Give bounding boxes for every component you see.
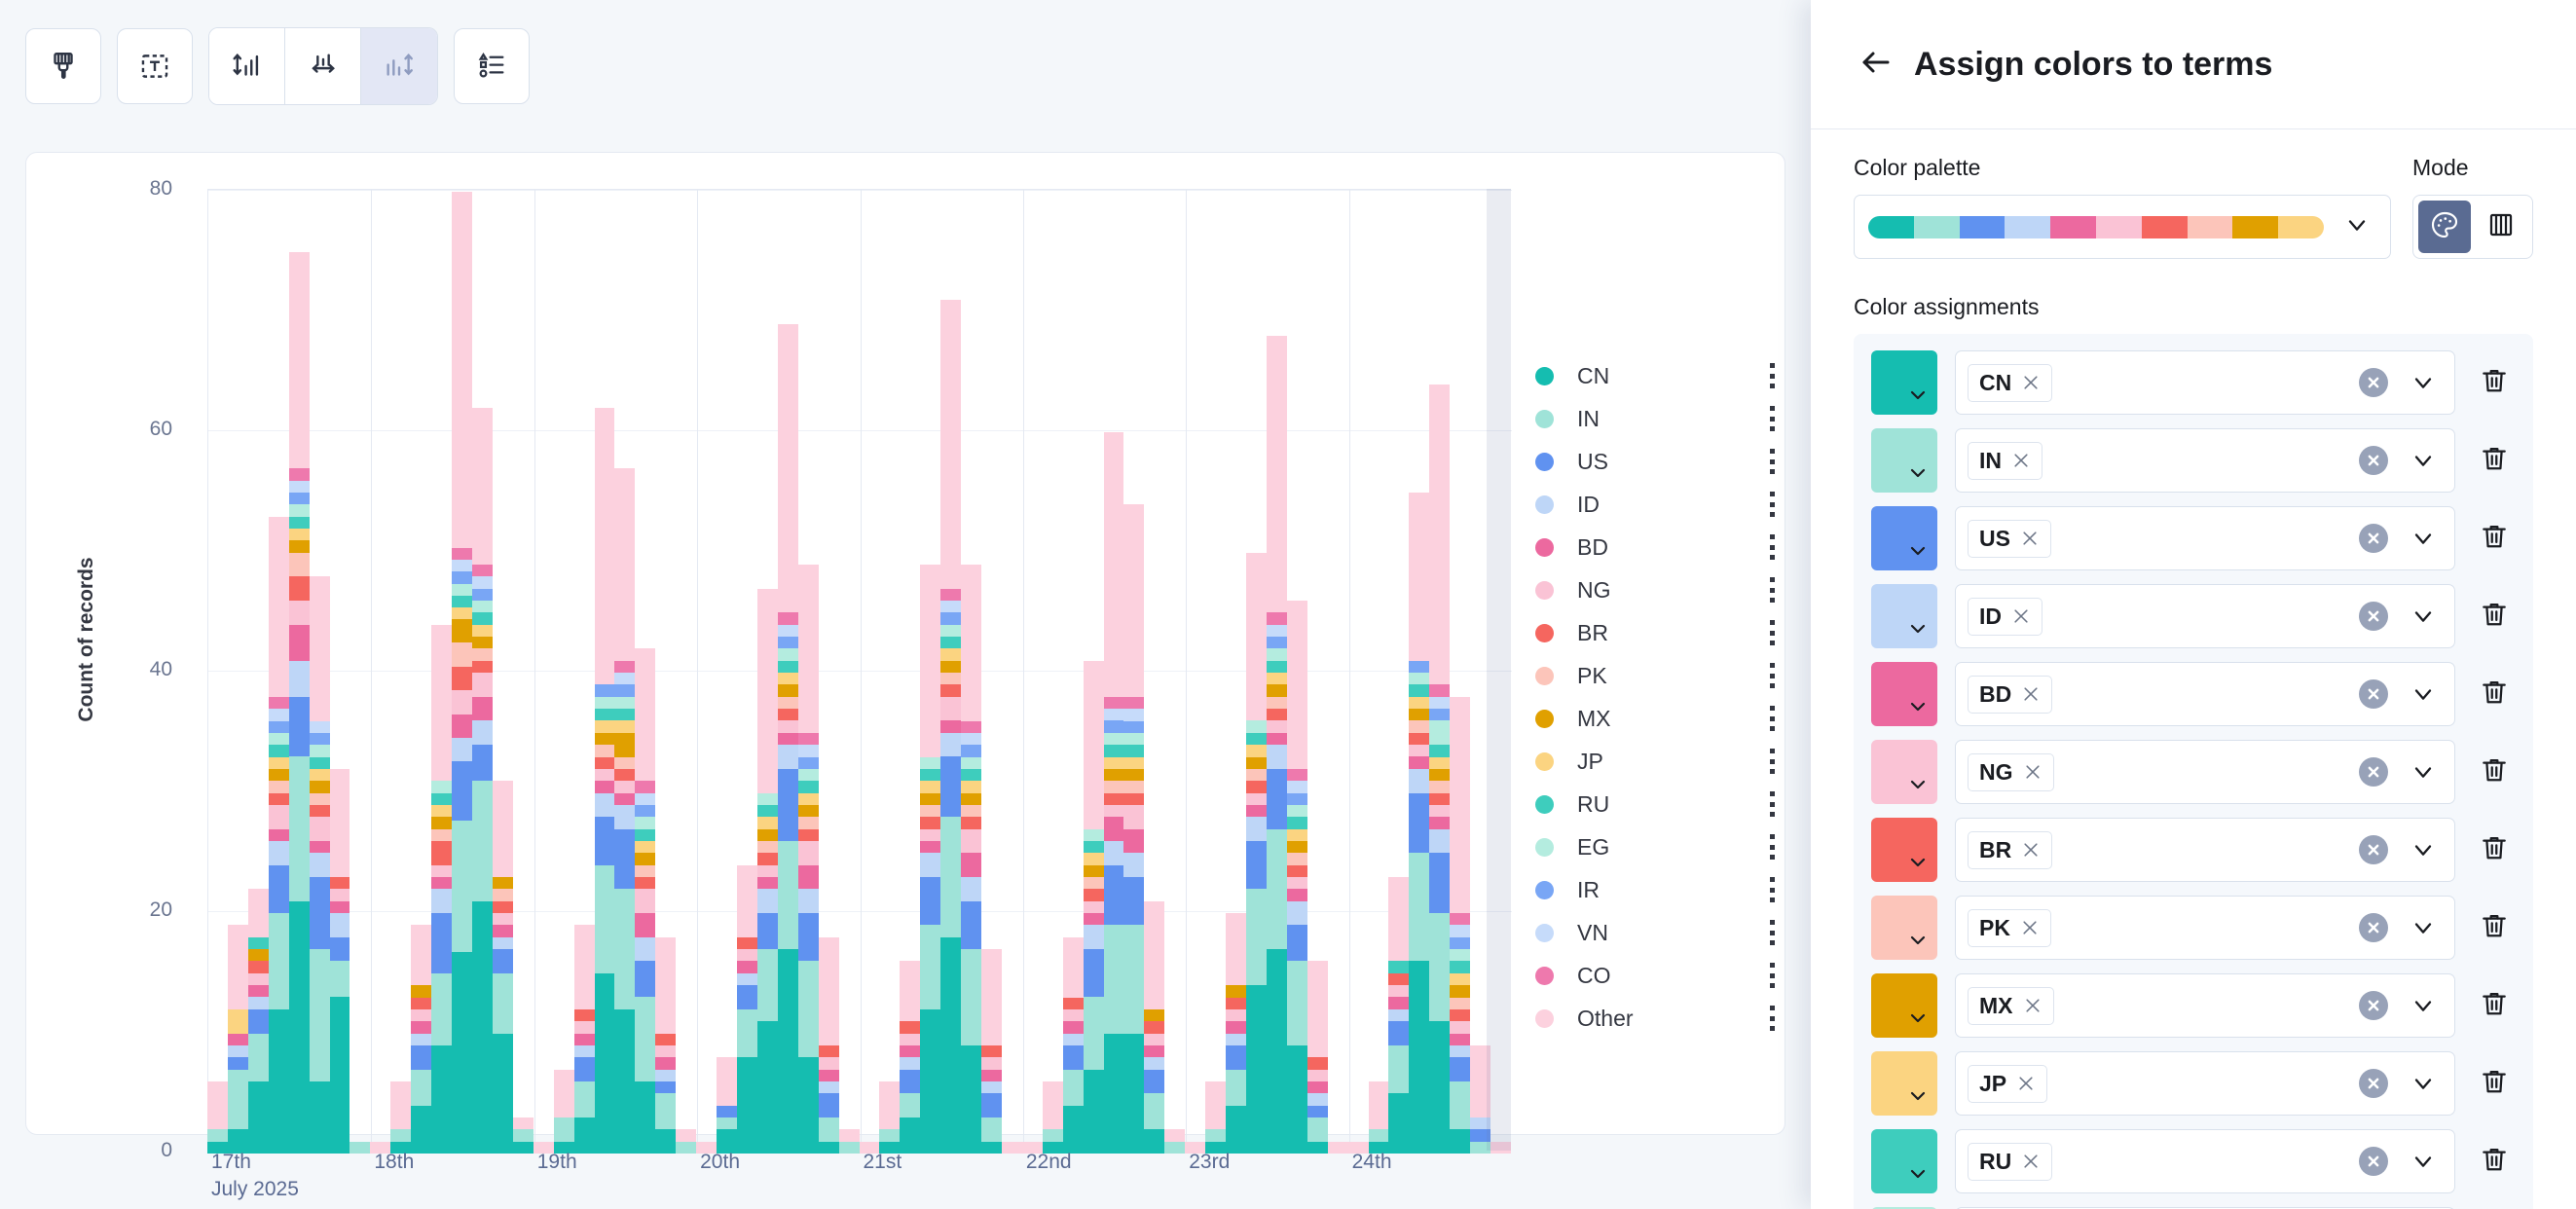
bar-segment[interactable] xyxy=(493,937,513,949)
bar-segment[interactable] xyxy=(961,793,981,805)
legend-item[interactable]: EG xyxy=(1535,825,1779,868)
bar-segment[interactable] xyxy=(269,865,289,913)
bar-segment[interactable] xyxy=(1144,1021,1164,1033)
bar-segment[interactable] xyxy=(472,697,493,721)
bar-segment[interactable] xyxy=(1450,1021,1470,1033)
bar-segment[interactable] xyxy=(289,697,310,757)
bar-segment[interactable] xyxy=(1246,781,1267,792)
bar-segment[interactable] xyxy=(1429,829,1450,854)
bar-segment[interactable] xyxy=(1063,1070,1084,1106)
chevron-down-icon[interactable] xyxy=(2410,1148,2437,1175)
bar-column[interactable] xyxy=(981,192,1002,1154)
bar-segment[interactable] xyxy=(289,756,310,900)
bar-segment[interactable] xyxy=(1226,1070,1246,1106)
bar-segment[interactable] xyxy=(981,1070,1002,1081)
bar-segment[interactable] xyxy=(574,1021,595,1033)
bar-segment[interactable] xyxy=(635,865,655,877)
bar-segment[interactable] xyxy=(289,517,310,529)
bar-segment[interactable] xyxy=(1287,841,1307,853)
bar-segment[interactable] xyxy=(595,817,615,864)
bar-segment[interactable] xyxy=(248,997,269,1008)
bar-segment[interactable] xyxy=(961,817,981,828)
delete-assignment-button[interactable] xyxy=(2473,751,2516,793)
bar-segment[interactable] xyxy=(431,781,452,792)
bar-segment[interactable] xyxy=(1246,757,1267,769)
color-swatch-picker[interactable] xyxy=(1871,973,1937,1038)
bar-segment[interactable] xyxy=(452,642,472,666)
bar-segment[interactable] xyxy=(1104,793,1124,805)
chevron-down-icon[interactable] xyxy=(2410,914,2437,941)
bar-segment[interactable] xyxy=(310,817,330,841)
color-swatch-picker[interactable] xyxy=(1871,896,1937,960)
bar-segment[interactable] xyxy=(778,637,798,648)
bar-segment[interactable] xyxy=(1063,1034,1084,1045)
bar-segment[interactable] xyxy=(1226,913,1246,985)
bar-segment[interactable] xyxy=(1104,757,1124,769)
color-swatch-picker[interactable] xyxy=(1871,740,1937,804)
bar-segment[interactable] xyxy=(269,1009,289,1154)
bar-segment[interactable] xyxy=(737,865,757,937)
bar-segment[interactable] xyxy=(1409,493,1429,661)
bar-segment[interactable] xyxy=(1123,745,1144,756)
bar-segment[interactable] xyxy=(431,973,452,1045)
bar-segment[interactable] xyxy=(940,684,961,696)
bar-segment[interactable] xyxy=(310,793,330,805)
bar-segment[interactable] xyxy=(493,913,513,925)
bar-segment[interactable] xyxy=(1409,661,1429,673)
bar-segment[interactable] xyxy=(248,937,269,949)
term-combobox[interactable]: JP xyxy=(1955,1051,2455,1116)
bar-segment[interactable] xyxy=(1429,769,1450,781)
bar-segment[interactable] xyxy=(1388,961,1409,972)
bar-segment[interactable] xyxy=(1123,504,1144,697)
bar-column[interactable] xyxy=(635,192,655,1154)
bar-segment[interactable] xyxy=(819,1093,839,1117)
bar-column[interactable] xyxy=(431,192,452,1154)
bar-segment[interactable] xyxy=(411,1070,431,1106)
bar-column[interactable] xyxy=(696,192,717,1154)
bar-column[interactable] xyxy=(1164,192,1185,1154)
bar-segment[interactable] xyxy=(1084,661,1104,829)
bar-column[interactable] xyxy=(452,192,472,1154)
legend-more-icon[interactable] xyxy=(1765,791,1779,817)
chevron-down-icon[interactable] xyxy=(2410,525,2437,552)
bar-segment[interactable] xyxy=(1409,733,1429,745)
bar-segment[interactable] xyxy=(981,949,1002,1045)
bar-segment[interactable] xyxy=(778,648,798,660)
bar-segment[interactable] xyxy=(778,324,798,612)
term-combobox[interactable]: ID xyxy=(1955,584,2455,648)
bar-segment[interactable] xyxy=(961,949,981,1045)
bar-segment[interactable] xyxy=(1307,1070,1328,1081)
bar-segment[interactable] xyxy=(798,793,819,805)
bar-segment[interactable] xyxy=(798,769,819,781)
bar-column[interactable] xyxy=(1409,192,1429,1154)
bar-segment[interactable] xyxy=(1226,1034,1246,1045)
bar-column[interactable] xyxy=(961,192,981,1154)
bar-segment[interactable] xyxy=(1429,745,1450,756)
bar-segment[interactable] xyxy=(411,985,431,997)
bar-segment[interactable] xyxy=(228,1057,248,1069)
legend-item[interactable]: Other xyxy=(1535,997,1779,1040)
delete-assignment-button[interactable] xyxy=(2473,1062,2516,1105)
bar-segment[interactable] xyxy=(757,841,778,853)
bar-segment[interactable] xyxy=(452,560,472,571)
bar-segment[interactable] xyxy=(940,817,961,937)
bar-segment[interactable] xyxy=(778,949,798,1154)
bar-segment[interactable] xyxy=(940,720,961,732)
bar-segment[interactable] xyxy=(269,517,289,697)
bar-segment[interactable] xyxy=(1388,1045,1409,1093)
clear-icon[interactable] xyxy=(2359,913,2388,942)
bar-segment[interactable] xyxy=(635,853,655,864)
bar-segment[interactable] xyxy=(900,1057,920,1069)
delete-assignment-button[interactable] xyxy=(2473,828,2516,871)
bar-segment[interactable] xyxy=(961,745,981,756)
bar-segment[interactable] xyxy=(614,793,635,805)
bar-segment[interactable] xyxy=(1450,1057,1470,1081)
bar-segment[interactable] xyxy=(1409,697,1429,709)
bar-segment[interactable] xyxy=(778,673,798,684)
bar-segment[interactable] xyxy=(207,1081,228,1129)
bar-segment[interactable] xyxy=(757,853,778,864)
bar-segment[interactable] xyxy=(1104,432,1124,697)
color-swatch-picker[interactable] xyxy=(1871,818,1937,882)
legend-more-icon[interactable] xyxy=(1765,492,1779,517)
bar-segment[interactable] xyxy=(1450,913,1470,925)
bar-segment[interactable] xyxy=(1084,877,1104,889)
bar-segment[interactable] xyxy=(452,584,472,596)
bar-segment[interactable] xyxy=(1287,961,1307,1044)
bar-column[interactable] xyxy=(269,192,289,1154)
bar-segment[interactable] xyxy=(330,889,350,900)
bar-segment[interactable] xyxy=(1409,673,1429,684)
clear-icon[interactable] xyxy=(2359,368,2388,397)
bar-segment[interactable] xyxy=(920,769,940,781)
bar-segment[interactable] xyxy=(228,1070,248,1130)
term-combobox[interactable]: NG xyxy=(1955,740,2455,804)
bar-segment[interactable] xyxy=(595,684,615,696)
bar-segment[interactable] xyxy=(961,805,981,817)
bar-column[interactable] xyxy=(1063,192,1084,1154)
bar-column[interactable] xyxy=(1144,192,1164,1154)
bar-segment[interactable] xyxy=(757,865,778,877)
bar-segment[interactable] xyxy=(614,720,635,732)
bar-segment[interactable] xyxy=(310,841,330,853)
bar-segment[interactable] xyxy=(1267,720,1287,732)
bar-segment[interactable] xyxy=(1084,853,1104,864)
bar-segment[interactable] xyxy=(493,889,513,900)
bar-column[interactable] xyxy=(1369,192,1389,1154)
bar-segment[interactable] xyxy=(595,745,615,756)
bar-segment[interactable] xyxy=(757,1021,778,1154)
bar-segment[interactable] xyxy=(778,745,798,769)
bar-segment[interactable] xyxy=(289,504,310,516)
remove-term-icon[interactable] xyxy=(2020,529,2040,548)
bar-segment[interactable] xyxy=(1287,805,1307,817)
chevron-down-icon[interactable] xyxy=(2410,836,2437,863)
bar-column[interactable] xyxy=(920,192,940,1154)
bar-column[interactable] xyxy=(513,192,534,1154)
bar-segment[interactable] xyxy=(778,720,798,732)
bar-segment[interactable] xyxy=(1470,1117,1490,1129)
bar-segment[interactable] xyxy=(940,697,961,721)
clear-icon[interactable] xyxy=(2359,757,2388,787)
bar-segment[interactable] xyxy=(1084,1070,1104,1154)
bar-column[interactable] xyxy=(390,192,411,1154)
bar-segment[interactable] xyxy=(390,1129,411,1141)
bar-segment[interactable] xyxy=(614,733,635,757)
bar-segment[interactable] xyxy=(595,973,615,1154)
bar-segment[interactable] xyxy=(778,709,798,720)
bar-segment[interactable] xyxy=(940,625,961,637)
bar-segment[interactable] xyxy=(269,829,289,841)
bar-segment[interactable] xyxy=(798,913,819,961)
bar-segment[interactable] xyxy=(330,901,350,913)
bar-column[interactable] xyxy=(757,192,778,1154)
bar-segment[interactable] xyxy=(431,805,452,817)
bar-segment[interactable] xyxy=(1267,625,1287,637)
legend-item[interactable]: BR xyxy=(1535,611,1779,654)
bar-segment[interactable] xyxy=(310,769,330,781)
bar-segment[interactable] xyxy=(472,601,493,612)
bar-segment[interactable] xyxy=(1267,661,1287,673)
bar-segment[interactable] xyxy=(940,601,961,612)
color-swatch-picker[interactable] xyxy=(1871,506,1937,570)
bar-segment[interactable] xyxy=(1164,1129,1185,1141)
bar-segment[interactable] xyxy=(1429,781,1450,792)
bar-segment[interactable] xyxy=(1104,733,1124,745)
bar-segment[interactable] xyxy=(1104,817,1124,841)
bar-segment[interactable] xyxy=(961,901,981,949)
bar-segment[interactable] xyxy=(1409,720,1429,732)
bar-column[interactable] xyxy=(860,192,880,1154)
bar-segment[interactable] xyxy=(248,961,269,972)
bar-segment[interactable] xyxy=(248,1081,269,1154)
bar-segment[interactable] xyxy=(757,793,778,805)
bar-segment[interactable] xyxy=(1205,1129,1226,1141)
bar-column[interactable] xyxy=(1185,192,1205,1154)
bar-segment[interactable] xyxy=(411,1034,431,1045)
term-combobox[interactable]: US xyxy=(1955,506,2455,570)
bar-segment[interactable] xyxy=(595,793,615,818)
bar-column[interactable] xyxy=(676,192,696,1154)
bar-segment[interactable] xyxy=(819,937,839,1045)
bar-segment[interactable] xyxy=(1084,997,1104,1069)
bar-segment[interactable] xyxy=(1470,1129,1490,1141)
bar-segment[interactable] xyxy=(228,1045,248,1057)
legend-item[interactable]: CN xyxy=(1535,354,1779,397)
bar-segment[interactable] xyxy=(778,733,798,745)
bar-segment[interactable] xyxy=(737,937,757,949)
bar-segment[interactable] xyxy=(289,529,310,540)
bar-column[interactable] xyxy=(1490,192,1511,1154)
bar-segment[interactable] xyxy=(798,565,819,733)
bar-segment[interactable] xyxy=(472,637,493,648)
bar-segment[interactable] xyxy=(1307,1081,1328,1093)
bar-segment[interactable] xyxy=(655,1070,676,1081)
bar-segment[interactable] xyxy=(289,576,310,601)
bar-segment[interactable] xyxy=(1429,757,1450,769)
bar-segment[interactable] xyxy=(269,805,289,829)
bar-segment[interactable] xyxy=(1246,720,1267,732)
bar-segment[interactable] xyxy=(798,865,819,890)
bar-segment[interactable] xyxy=(1123,1034,1144,1154)
bar-segment[interactable] xyxy=(269,745,289,756)
bar-column[interactable] xyxy=(1348,192,1369,1154)
bar-segment[interactable] xyxy=(1104,709,1124,720)
bar-segment[interactable] xyxy=(614,781,635,792)
bar-segment[interactable] xyxy=(1388,1093,1409,1154)
legend-options-button[interactable] xyxy=(454,28,530,104)
bar-segment[interactable] xyxy=(452,192,472,548)
bar-segment[interactable] xyxy=(757,805,778,817)
legend-item[interactable]: CO xyxy=(1535,954,1779,997)
bar-column[interactable] xyxy=(1307,192,1328,1154)
bar-segment[interactable] xyxy=(635,913,655,937)
bar-column[interactable] xyxy=(228,192,248,1154)
legend-more-icon[interactable] xyxy=(1765,363,1779,388)
bar-segment[interactable] xyxy=(228,1034,248,1045)
bar-segment[interactable] xyxy=(757,829,778,841)
bar-segment[interactable] xyxy=(330,937,350,962)
bar-segment[interactable] xyxy=(1144,1057,1164,1069)
bar-segment[interactable] xyxy=(1429,684,1450,696)
bar-segment[interactable] xyxy=(310,805,330,817)
horizontal-scale-button[interactable] xyxy=(285,28,361,104)
bar-segment[interactable] xyxy=(1246,745,1267,756)
bar-segment[interactable] xyxy=(920,757,940,769)
bar-segment[interactable] xyxy=(940,612,961,624)
bar-segment[interactable] xyxy=(472,648,493,660)
bar-segment[interactable] xyxy=(1123,709,1144,720)
bar-segment[interactable] xyxy=(961,721,981,733)
bar-segment[interactable] xyxy=(961,769,981,781)
bar-segment[interactable] xyxy=(574,1045,595,1057)
legend-more-icon[interactable] xyxy=(1765,749,1779,774)
bar-segment[interactable] xyxy=(1287,817,1307,828)
bar-segment[interactable] xyxy=(1246,733,1267,745)
bar-segment[interactable] xyxy=(879,1081,900,1129)
bar-segment[interactable] xyxy=(614,769,635,781)
bar-segment[interactable] xyxy=(900,1021,920,1033)
bar-segment[interactable] xyxy=(1267,612,1287,624)
vertical-scale-button[interactable] xyxy=(209,28,285,104)
bar-segment[interactable] xyxy=(472,612,493,624)
bar-segment[interactable] xyxy=(1104,925,1124,1033)
bar-segment[interactable] xyxy=(961,757,981,769)
bar-segment[interactable] xyxy=(1084,829,1104,841)
bar-segment[interactable] xyxy=(1429,817,1450,828)
bar-segment[interactable] xyxy=(635,841,655,853)
bar-segment[interactable] xyxy=(1429,720,1450,745)
bar-segment[interactable] xyxy=(431,841,452,865)
bar-segment[interactable] xyxy=(920,805,940,817)
bar-segment[interactable] xyxy=(900,1034,920,1045)
bar-segment[interactable] xyxy=(493,1034,513,1154)
bar-segment[interactable] xyxy=(248,1009,269,1034)
bar-segment[interactable] xyxy=(554,1070,574,1117)
bar-segment[interactable] xyxy=(1144,901,1164,1009)
bar-segment[interactable] xyxy=(655,1057,676,1069)
bar-segment[interactable] xyxy=(1267,949,1287,1154)
bar-segment[interactable] xyxy=(1429,385,1450,685)
legend-item[interactable]: PK xyxy=(1535,654,1779,697)
bar-segment[interactable] xyxy=(614,1009,635,1154)
bar-segment[interactable] xyxy=(614,684,635,696)
bar-segment[interactable] xyxy=(431,625,452,782)
bar-segment[interactable] xyxy=(778,769,798,841)
bar-segment[interactable] xyxy=(1123,733,1144,745)
term-combobox[interactable]: MX xyxy=(1955,973,2455,1038)
bar-segment[interactable] xyxy=(614,468,635,661)
legend-item[interactable]: IN xyxy=(1535,397,1779,440)
plot-area[interactable] xyxy=(207,189,1511,1154)
bar-segment[interactable] xyxy=(920,853,940,877)
clear-icon[interactable] xyxy=(2359,1147,2388,1176)
bar-segment[interactable] xyxy=(269,781,289,792)
stacked-scale-button[interactable] xyxy=(361,28,437,104)
bar-column[interactable] xyxy=(330,192,350,1154)
remove-term-icon[interactable] xyxy=(2011,606,2031,626)
bar-segment[interactable] xyxy=(1063,998,1084,1009)
bar-column[interactable] xyxy=(1388,192,1409,1154)
bar-segment[interactable] xyxy=(493,781,513,877)
bar-segment[interactable] xyxy=(635,817,655,828)
bar-segment[interactable] xyxy=(655,1081,676,1093)
legend-item[interactable]: BD xyxy=(1535,526,1779,568)
bar-segment[interactable] xyxy=(431,889,452,913)
bar-segment[interactable] xyxy=(920,793,940,805)
bar-segment[interactable] xyxy=(574,1057,595,1081)
delete-assignment-button[interactable] xyxy=(2473,906,2516,949)
bar-segment[interactable] xyxy=(1267,697,1287,709)
bar-segment[interactable] xyxy=(1388,997,1409,1008)
bar-segment[interactable] xyxy=(310,733,330,745)
bar-segment[interactable] xyxy=(940,648,961,660)
bar-segment[interactable] xyxy=(1429,697,1450,709)
clear-icon[interactable] xyxy=(2359,835,2388,864)
remove-term-icon[interactable] xyxy=(2016,1074,2036,1093)
bar-segment[interactable] xyxy=(310,576,330,720)
bar-column[interactable] xyxy=(1084,192,1104,1154)
bar-segment[interactable] xyxy=(1246,817,1267,841)
clear-icon[interactable] xyxy=(2359,602,2388,631)
bar-segment[interactable] xyxy=(1063,937,1084,998)
bar-segment[interactable] xyxy=(411,1045,431,1070)
bar-segment[interactable] xyxy=(981,1057,1002,1069)
bar-segment[interactable] xyxy=(1144,1009,1164,1021)
bar-segment[interactable] xyxy=(1226,1009,1246,1021)
legend-more-icon[interactable] xyxy=(1765,877,1779,902)
bar-segment[interactable] xyxy=(330,769,350,877)
bar-segment[interactable] xyxy=(1226,998,1246,1009)
bar-segment[interactable] xyxy=(269,709,289,720)
bar-segment[interactable] xyxy=(961,733,981,745)
bar-segment[interactable] xyxy=(1267,829,1287,950)
bar-segment[interactable] xyxy=(1123,697,1144,709)
bar-segment[interactable] xyxy=(1307,1093,1328,1105)
bar-segment[interactable] xyxy=(1388,1021,1409,1045)
bar-segment[interactable] xyxy=(431,1045,452,1154)
delete-assignment-button[interactable] xyxy=(2473,984,2516,1027)
bar-segment[interactable] xyxy=(452,596,472,607)
bar-segment[interactable] xyxy=(595,709,615,720)
chevron-down-icon[interactable] xyxy=(2410,992,2437,1019)
chevron-down-icon[interactable] xyxy=(2410,369,2437,396)
bar-segment[interactable] xyxy=(595,408,615,684)
bar-segment[interactable] xyxy=(1246,769,1267,781)
